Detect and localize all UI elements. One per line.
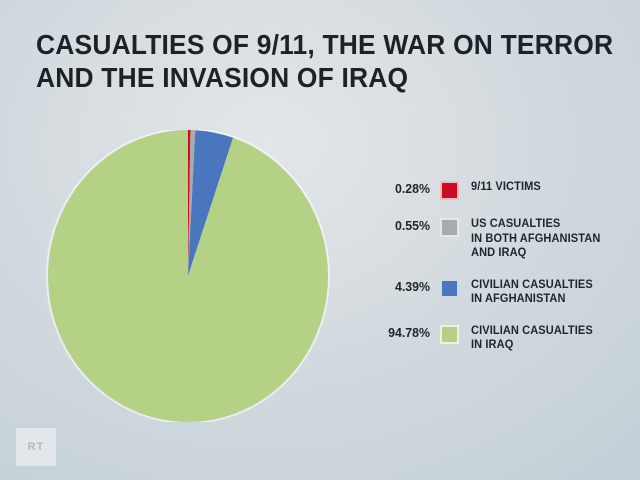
legend-percentage: 4.39% [364, 278, 431, 295]
legend-percentage: 0.28% [364, 180, 431, 197]
legend-item[interactable]: 0.28%9/11 VICTIMS [360, 180, 630, 200]
legend-percentage: 94.78% [364, 324, 431, 341]
page-title: CASUALTIES OF 9/11, THE WAR ON TERROR AN… [36, 28, 616, 94]
pie-slice[interactable] [48, 130, 328, 422]
legend-item[interactable]: 94.78%CIVILIAN CASUALTIES IN IRAQ [360, 324, 630, 353]
legend-label: 9/11 VICTIMS [471, 180, 541, 195]
watermark-logo: RT [16, 428, 56, 466]
legend-item[interactable]: 4.39%CIVILIAN CASUALTIES IN AFGHANISTAN [360, 278, 630, 307]
legend-color-swatch [440, 279, 459, 298]
legend-item[interactable]: 0.55%US CASUALTIES IN BOTH AFGHANISTAN A… [360, 217, 630, 261]
pie-chart-svg [46, 130, 330, 422]
legend-label: CIVILIAN CASUALTIES IN IRAQ [471, 324, 593, 353]
pie-chart [46, 130, 330, 422]
watermark-label: RT [28, 441, 45, 453]
title-line-2: AND THE INVASION OF IRAQ [36, 61, 593, 94]
infographic-canvas: CASUALTIES OF 9/11, THE WAR ON TERROR AN… [0, 0, 640, 480]
legend-label: CIVILIAN CASUALTIES IN AFGHANISTAN [471, 278, 593, 307]
title-line-1: CASUALTIES OF 9/11, THE WAR ON TERROR [36, 28, 593, 61]
legend-color-swatch [440, 181, 459, 200]
legend-percentage: 0.55% [364, 217, 431, 234]
pie-slice-group [46, 130, 330, 422]
legend-color-swatch [440, 218, 459, 237]
chart-legend: 0.28%9/11 VICTIMS0.55%US CASUALTIES IN B… [360, 180, 630, 370]
legend-label: US CASUALTIES IN BOTH AFGHANISTAN AND IR… [471, 217, 600, 261]
legend-color-swatch [440, 325, 459, 344]
